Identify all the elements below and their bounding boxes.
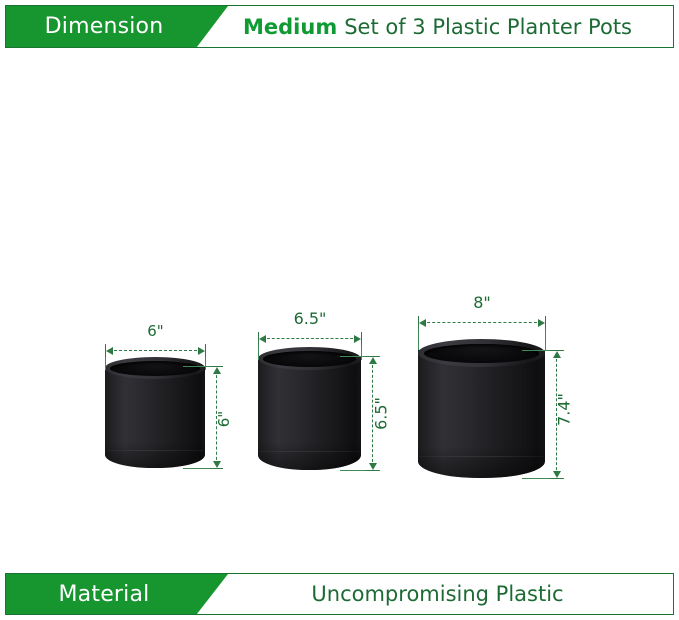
dim-tick-bottom (366, 470, 379, 471)
small-pot-shape (105, 366, 205, 468)
dim-arrow-up-icon (213, 367, 221, 374)
medium-pot-width-dimension (258, 332, 362, 346)
large-pot-opening (424, 344, 539, 363)
large-pot-base-shadow (418, 446, 545, 478)
material-tab: Material (6, 574, 228, 614)
dim-arrow-up-icon (553, 351, 561, 358)
medium-pot-shape (258, 356, 361, 470)
product-title-text: Set of 3 Plastic Planter Pots (344, 15, 632, 39)
dim-tick-right (545, 316, 546, 329)
dim-dashed-line (422, 322, 542, 323)
dim-tick-bottom (550, 478, 563, 479)
medium-pot-base-shadow (258, 442, 361, 470)
dim-arrow-left-icon (106, 347, 113, 355)
dim-arrow-right-icon (198, 347, 205, 355)
material-tab-label: Material (59, 582, 150, 607)
dim-arrow-up-icon (369, 357, 377, 364)
small-pot-width-dimension (105, 344, 206, 358)
small-pot-height-label: 6" (215, 399, 233, 439)
large-planter-pot: 8" 7.4" (418, 288, 598, 478)
dim-tick-right (205, 344, 206, 357)
dim-arrow-left-icon (259, 335, 266, 343)
dimension-banner: Dimension Medium Set of 3 Plastic Plante… (5, 5, 674, 48)
material-description-text: Uncompromising Plastic (311, 582, 563, 606)
small-planter-pot: 6" 6" (105, 318, 253, 478)
dim-arrow-right-icon (354, 335, 361, 343)
product-image-stage: 6" 6" 6. (0, 48, 679, 573)
medium-pot-width-label: 6.5" (258, 309, 362, 328)
small-pot-opening (110, 361, 200, 376)
dim-arrow-right-icon (538, 319, 545, 327)
medium-pot-height-label: 6.5" (372, 390, 391, 438)
dim-tick-bottom (210, 468, 223, 469)
product-title: Medium Set of 3 Plastic Planter Pots (202, 6, 673, 47)
dimension-tab: Dimension (6, 6, 228, 47)
material-description: Uncompromising Plastic (202, 574, 673, 614)
dim-arrow-down-icon (213, 461, 221, 468)
small-pot-body (105, 366, 205, 468)
large-pot-shape (418, 350, 545, 478)
dim-tick-right (361, 332, 362, 345)
dim-arrow-down-icon (369, 463, 377, 470)
small-pot-base-shadow (105, 442, 205, 468)
material-banner: Material Uncompromising Plastic (5, 573, 674, 615)
large-pot-height-label: 7.4" (555, 386, 574, 434)
small-pot-width-label: 6" (105, 322, 206, 340)
large-pot-width-dimension (418, 316, 546, 330)
large-pot-body (418, 350, 545, 478)
large-pot-width-label: 8" (418, 293, 546, 312)
dim-arrow-down-icon (553, 471, 561, 478)
medium-pot-body (258, 356, 361, 470)
dimension-tab-label: Dimension (45, 14, 164, 39)
medium-planter-pot: 6.5" 6.5" (258, 306, 413, 478)
medium-pot-opening (263, 351, 356, 367)
dim-arrow-left-icon (419, 319, 426, 327)
product-size-label: Medium (243, 15, 337, 39)
dim-dashed-line (109, 350, 202, 351)
dim-dashed-line (262, 338, 358, 339)
